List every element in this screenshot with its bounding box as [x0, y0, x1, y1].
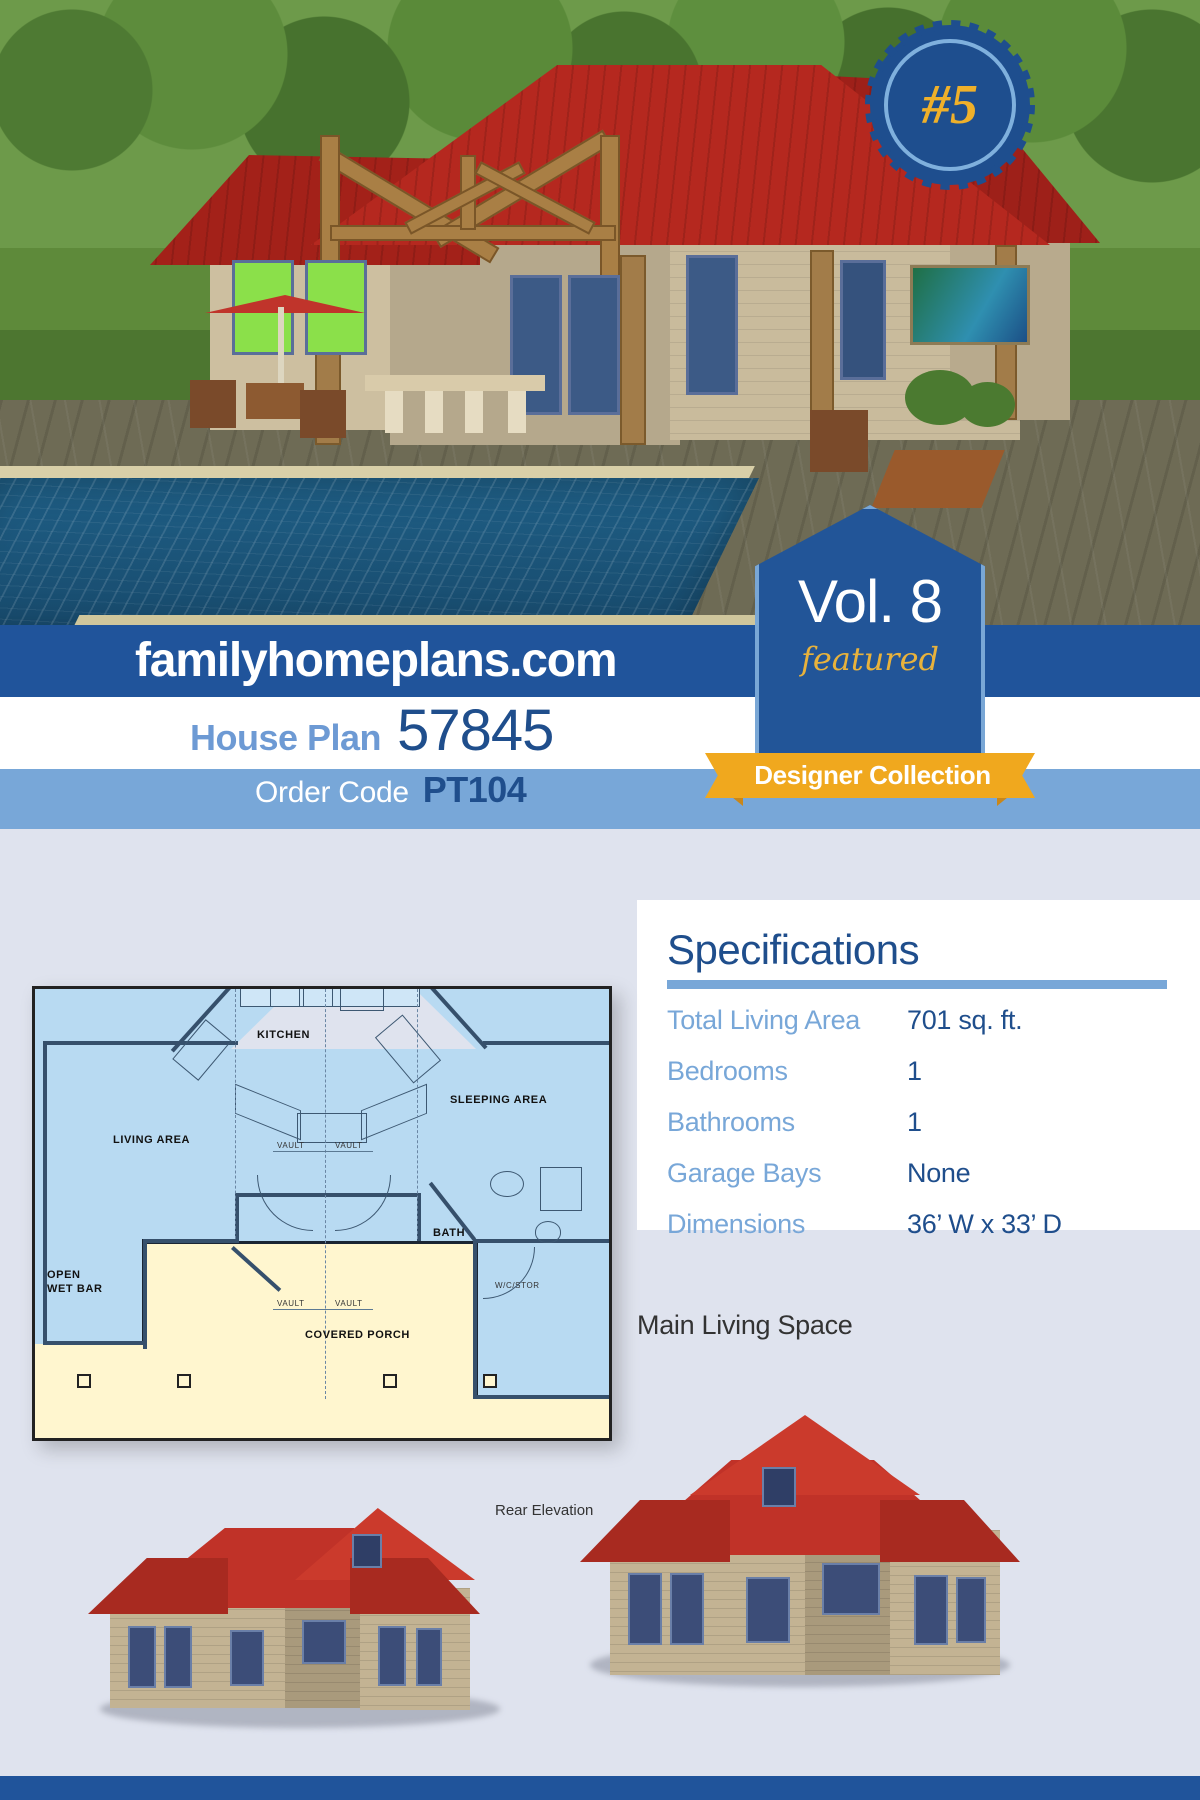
fp-vault-rule	[273, 1309, 373, 1310]
spec-label: Total Living Area	[667, 1005, 907, 1036]
spec-value: None	[907, 1158, 970, 1189]
volume-number: Vol. 8	[759, 567, 981, 636]
fp-label-sleeping: SLEEPING AREA	[450, 1094, 547, 1106]
bar-stool	[425, 391, 443, 433]
fp-toilet	[535, 1221, 561, 1243]
fp-label-kitchen: KITCHEN	[257, 1029, 310, 1041]
spec-row-dimensions: Dimensions 36’ W x 33’ D	[667, 1209, 1200, 1260]
swimming-pool	[0, 478, 759, 625]
lounge-chair	[871, 450, 1004, 508]
specifications-title: Specifications	[667, 926, 1200, 974]
fp-wall	[147, 1239, 237, 1243]
fp-label-vault: VAULT	[335, 1299, 363, 1308]
fp-porch-column	[77, 1374, 91, 1388]
brand-name: familyhomeplans.com	[135, 637, 616, 685]
wall-artwork	[910, 265, 1030, 345]
spec-label: Bedrooms	[667, 1056, 907, 1087]
patio-chair	[810, 410, 868, 472]
rear-elevation	[80, 1480, 520, 1740]
fp-porch-column	[177, 1374, 191, 1388]
fp-wall	[143, 1239, 147, 1349]
house-plan-label: House Plan	[190, 717, 381, 759]
fp-wall	[483, 1041, 612, 1045]
pool-coping	[71, 615, 770, 625]
fp-label-porch: COVERED PORCH	[305, 1329, 410, 1341]
bar-stool	[508, 391, 526, 433]
spec-value: 1	[907, 1107, 922, 1138]
fp-label-wetbar-2: WET BAR	[47, 1283, 103, 1295]
brand-bar: familyhomeplans.com	[0, 625, 1200, 697]
order-code-value: PT104	[423, 769, 527, 811]
floor-plan: KITCHEN LIVING AREA SLEEPING AREA BATH O…	[32, 986, 612, 1441]
hero-rendering: #5	[0, 0, 1200, 625]
patio-chair	[300, 390, 346, 438]
fp-label-living: LIVING AREA	[113, 1134, 190, 1146]
fp-sink	[303, 987, 333, 1007]
fp-vault-rule	[273, 1151, 373, 1152]
fp-wall	[473, 1239, 477, 1399]
spec-label: Dimensions	[667, 1209, 907, 1240]
bar-stool	[465, 391, 483, 433]
fp-wall	[43, 1043, 47, 1343]
rank-badge-text: #5	[865, 20, 1035, 190]
spec-label: Garage Bays	[667, 1158, 907, 1189]
spec-row-bedrooms: Bedrooms 1	[667, 1056, 1200, 1107]
spec-row-total-living-area: Total Living Area 701 sq. ft.	[667, 1005, 1200, 1056]
fp-label-vault: VAULT	[277, 1299, 305, 1308]
patio-table	[246, 383, 304, 419]
bar-stool	[385, 391, 403, 433]
fp-label-wetbar-1: OPEN	[47, 1269, 81, 1281]
specifications-panel: Specifications Total Living Area 701 sq.…	[637, 900, 1200, 1230]
fp-shower	[540, 1167, 582, 1211]
fp-wall	[609, 1041, 612, 1396]
fp-label-storage: W/C/STOR	[495, 1281, 540, 1290]
spec-value: 701 sq. ft.	[907, 1005, 1022, 1036]
outdoor-bar	[365, 375, 545, 391]
footer-bar	[0, 1776, 1200, 1800]
spec-value: 36’ W x 33’ D	[907, 1209, 1062, 1240]
main-living-space-caption: Main Living Space	[637, 1310, 853, 1341]
house-plan-number: 57845	[397, 697, 553, 764]
porch-post	[810, 250, 834, 430]
fp-sink	[270, 987, 300, 1007]
window	[568, 275, 620, 415]
fp-ceiling-line	[235, 989, 236, 1239]
fp-porch-column	[383, 1374, 397, 1388]
window	[840, 260, 886, 380]
fp-dishwasher	[340, 986, 384, 1011]
specifications-underline	[667, 980, 1167, 989]
plan-sheet: #5 familyhomeplans.com House Plan 57845 …	[0, 0, 1200, 1800]
featured-script: featured	[759, 640, 981, 678]
ribbon-body: Designer Collection	[730, 753, 1015, 798]
fp-ceiling-line	[417, 989, 418, 1239]
fp-island	[235, 1097, 425, 1149]
spec-row-bathrooms: Bathrooms 1	[667, 1107, 1200, 1158]
fp-label-bath: BATH	[433, 1227, 465, 1239]
window	[686, 255, 738, 395]
porch-post	[620, 255, 646, 445]
patio-chair	[190, 380, 236, 428]
order-code-label: Order Code	[255, 776, 409, 810]
ribbon-label: Designer Collection	[754, 760, 991, 791]
fp-wall	[473, 1395, 612, 1399]
spec-value: 1	[907, 1056, 922, 1087]
spec-row-garage-bays: Garage Bays None	[667, 1158, 1200, 1209]
shrub	[960, 382, 1015, 427]
main-living-space-elevation	[550, 1405, 1040, 1705]
fp-tub	[490, 1171, 524, 1197]
fp-label-vault: VAULT	[335, 1141, 363, 1150]
designer-collection-ribbon: Designer Collection	[705, 753, 1035, 798]
fp-wall	[43, 1341, 147, 1345]
fp-label-vault: VAULT	[277, 1141, 305, 1150]
fp-wall	[231, 1246, 281, 1292]
fp-porch-column	[483, 1374, 497, 1388]
spec-label: Bathrooms	[667, 1107, 907, 1138]
